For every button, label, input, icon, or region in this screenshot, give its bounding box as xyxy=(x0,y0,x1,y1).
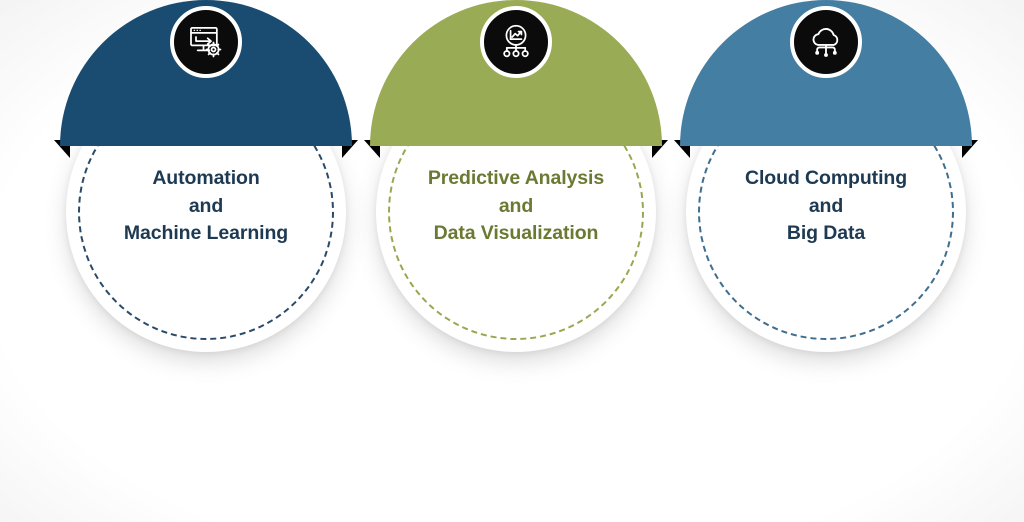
card-label-line-1: Cloud Computing xyxy=(686,165,966,193)
card-label-line-3: Data Visualization xyxy=(376,220,656,248)
cloud-network-icon xyxy=(806,22,846,62)
card-label: Predictive Analysis and Data Visualizati… xyxy=(376,165,656,248)
card-predictive-analysis-data-visualization[interactable]: Predictive Analysis and Data Visualizati… xyxy=(346,0,686,460)
infographic-canvas: Automation and Machine Learning xyxy=(0,0,1024,522)
icon-badge[interactable] xyxy=(480,6,552,78)
card-label-line-1: Automation xyxy=(66,165,346,193)
card-label: Automation and Machine Learning xyxy=(66,165,346,248)
card-label: Cloud Computing and Big Data xyxy=(686,165,966,248)
card-label-line-2: and xyxy=(376,193,656,221)
card-cloud-computing-big-data[interactable]: Cloud Computing and Big Data xyxy=(656,0,996,460)
chart-trend-network-icon xyxy=(496,22,536,62)
card-label-line-1: Predictive Analysis xyxy=(376,165,656,193)
card-label-line-3: Big Data xyxy=(686,220,966,248)
monitor-gear-automation-icon xyxy=(186,22,226,62)
icon-badge[interactable] xyxy=(170,6,242,78)
card-automation-machine-learning[interactable]: Automation and Machine Learning xyxy=(36,0,376,460)
icon-badge[interactable] xyxy=(790,6,862,78)
card-label-line-2: and xyxy=(66,193,346,221)
card-label-line-2: and xyxy=(686,193,966,221)
card-label-line-3: Machine Learning xyxy=(66,220,346,248)
